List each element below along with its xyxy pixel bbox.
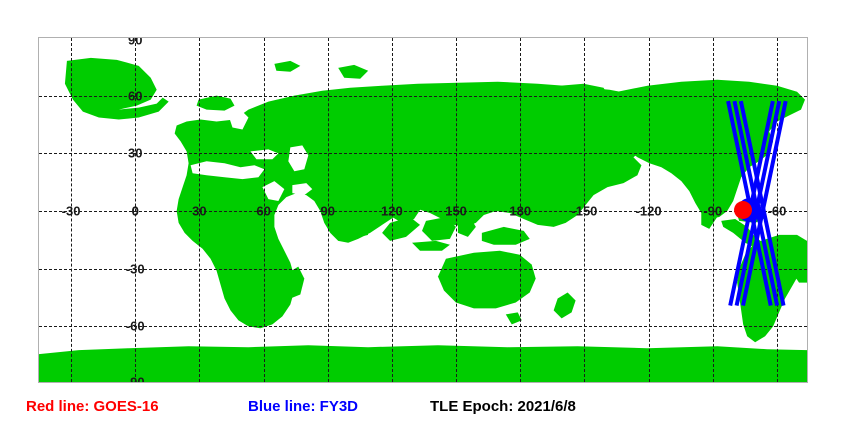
cuba-shape (737, 211, 767, 223)
lon-tick-label--60: -60 (768, 205, 787, 218)
legend-bar: Red line: GOES-16 Blue line: FY3D TLE Ep… (0, 392, 850, 425)
lat-tick-label-0: 0 (132, 205, 139, 218)
legend-blue-line-fy3d: Blue line: FY3D (248, 398, 358, 415)
tasmania-shape (506, 312, 522, 324)
iceland-shape (197, 96, 235, 111)
landmass-svg (39, 38, 807, 382)
world-map-plot: -300306090120150180-150-120-90-609060300… (38, 37, 808, 383)
greenland-shape (65, 58, 169, 120)
new-guinea-shape (482, 227, 530, 245)
lon-tick-label--30: -30 (62, 205, 81, 218)
lon-tick-label-150: 150 (445, 205, 467, 218)
arctic-islands-shape (274, 61, 300, 72)
north-america-shape (610, 80, 805, 219)
lon-tick-label--120: -120 (636, 205, 662, 218)
legend-red-line-goes16: Red line: GOES-16 (26, 398, 159, 415)
australia-shape (438, 251, 536, 309)
lon-tick-label-60: 60 (256, 205, 270, 218)
antarctica-shape (39, 345, 807, 382)
novaya-zemlya-shape (338, 65, 368, 79)
lat-tick-label-60: 60 (128, 89, 142, 102)
lon-tick-label-180: 180 (509, 205, 531, 218)
lon-tick-label-120: 120 (381, 205, 403, 218)
landmass-layer (39, 38, 807, 382)
java-shape (412, 241, 450, 251)
new-zealand-shape (554, 293, 576, 319)
legend-tle-epoch: TLE Epoch: 2021/6/8 (430, 398, 576, 415)
lat-tick-label--30: -30 (126, 262, 145, 275)
lon-tick-label-90: 90 (321, 205, 335, 218)
lat-tick-label-30: 30 (128, 147, 142, 160)
lon-tick-label--90: -90 (703, 205, 722, 218)
lat-tick-label--90: -90 (126, 376, 145, 384)
lon-tick-label--150: -150 (571, 205, 597, 218)
lat-tick-label-90: 90 (128, 37, 142, 47)
lat-tick-label--60: -60 (126, 320, 145, 333)
lon-tick-label-30: 30 (192, 205, 206, 218)
